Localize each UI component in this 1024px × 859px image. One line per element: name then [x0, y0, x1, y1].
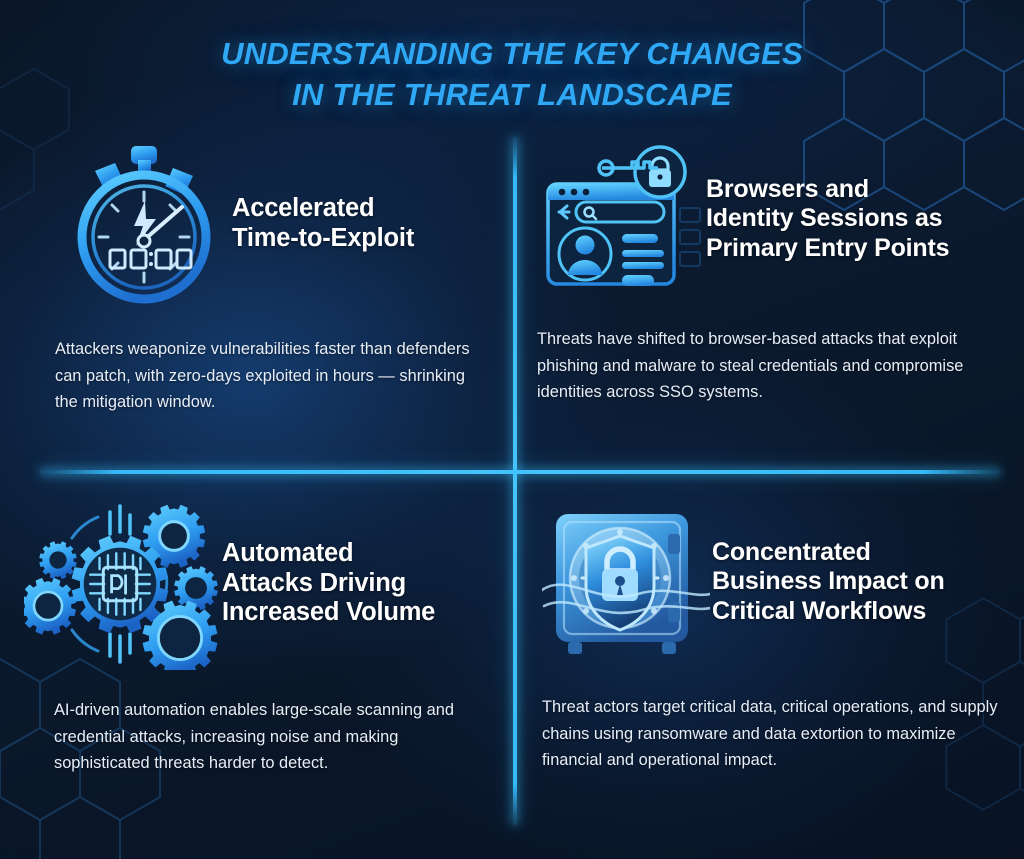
quadrant-heading: Automated Attacks Driving Increased Volu…: [222, 539, 435, 628]
quadrant-heading: Accelerated Time-to-Exploit: [232, 194, 414, 254]
heading-line-2: Time-to-Exploit: [232, 224, 414, 254]
quadrant-body-text: Threats have shifted to browser-based at…: [512, 298, 1024, 406]
infographic-canvas: UNDERSTANDING THE KEY CHANGES IN THE THR…: [0, 0, 1024, 859]
quadrant-accelerated-time-to-exploit: Accelerated Time-to-Exploit Attackers we…: [0, 132, 512, 470]
page-title-line-2: IN THE THREAT LANDSCAPE: [0, 75, 1024, 116]
heading-line-3: Primary Entry Points: [706, 234, 949, 263]
quadrant-body-text: Attackers weaponize vulnerabilities fast…: [0, 308, 512, 416]
quadrant-body-text: Threat actors target critical data, crit…: [512, 668, 1024, 774]
heading-line-1: Automated: [222, 539, 435, 569]
vertical-divider: [513, 137, 517, 825]
browser-identity-key-lock-icon: [538, 140, 706, 298]
page-title: UNDERSTANDING THE KEY CHANGES IN THE THR…: [0, 34, 1024, 115]
quadrant-header: Concentrated Business Impact on Critical…: [512, 474, 1024, 668]
quadrant-header: Automated Attacks Driving Increased Volu…: [0, 474, 512, 671]
quadrant-body-text: AI-driven automation enables large-scale…: [0, 671, 512, 777]
quadrant-automated-attacks: Automated Attacks Driving Increased Volu…: [0, 474, 512, 859]
heading-line-3: Increased Volume: [222, 598, 435, 628]
page-title-line-1: UNDERSTANDING THE KEY CHANGES: [221, 36, 803, 71]
heading-line-2: Attacks Driving: [222, 569, 435, 599]
quadrant-concentrated-business-impact: Concentrated Business Impact on Critical…: [512, 474, 1024, 859]
heading-line-2: Business Impact on: [712, 567, 945, 596]
horizontal-divider: [40, 470, 1000, 474]
quadrant-heading: Concentrated Business Impact on Critical…: [712, 538, 945, 626]
heading-line-3: Critical Workflows: [712, 597, 945, 626]
heading-line-1: Concentrated: [712, 538, 945, 567]
quadrant-header: Browsers and Identity Sessions as Primar…: [512, 132, 1024, 298]
quadrant-heading: Browsers and Identity Sessions as Primar…: [706, 175, 949, 263]
vault-shield-padlock-icon: [540, 496, 712, 668]
quadrant-browsers-and-identity-sessions: Browsers and Identity Sessions as Primar…: [512, 132, 1024, 470]
heading-line-2: Identity Sessions as: [706, 204, 949, 233]
stopwatch-lightning-icon: [36, 140, 232, 308]
quadrant-header: Accelerated Time-to-Exploit: [0, 132, 512, 308]
heading-line-1: Accelerated: [232, 194, 414, 224]
gears-ai-chip-icon: [22, 496, 222, 671]
heading-line-1: Browsers and: [706, 175, 949, 204]
